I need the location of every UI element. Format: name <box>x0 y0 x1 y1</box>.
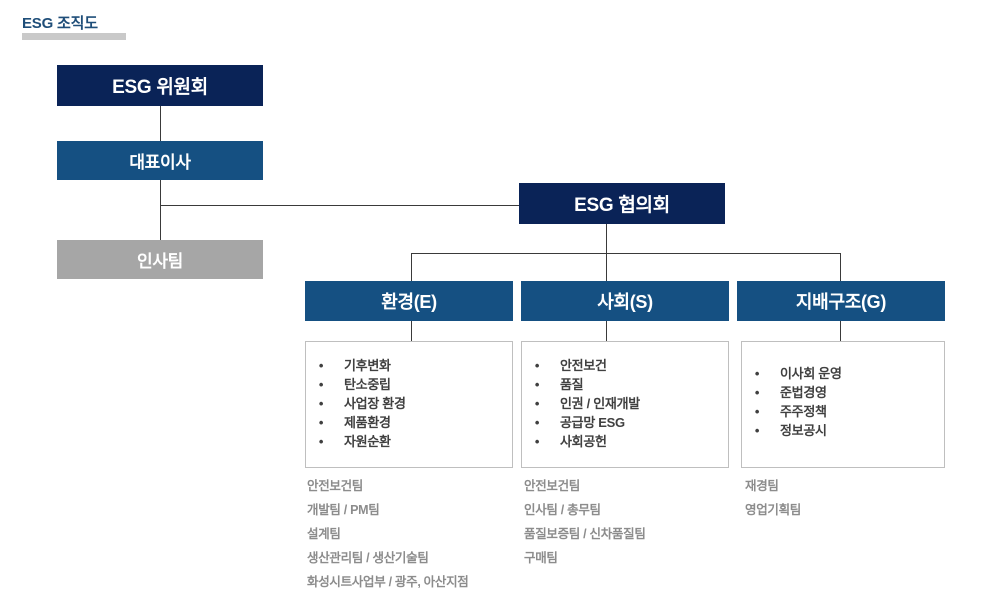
team-name: 화성시트사업부 / 광주, 아산지점 <box>307 570 468 594</box>
topic-item-label: 주주정책 <box>772 402 827 421</box>
topic-item: •품질 <box>522 375 728 394</box>
topics-box-social: •안전보건•품질•인권 / 인재개발•공급망 ESG•사회공헌 <box>521 341 729 468</box>
topic-item-label: 사업장 환경 <box>336 394 406 413</box>
bullet-icon: • <box>522 356 552 375</box>
team-name: 인사팀 / 총무팀 <box>524 498 646 522</box>
team-name: 생산관리팀 / 생산기술팀 <box>307 546 468 570</box>
topic-item: •공급망 ESG <box>522 413 728 432</box>
topic-item-label: 품질 <box>552 375 583 394</box>
connector-distributor-bar <box>411 253 841 254</box>
topic-item-label: 준법경영 <box>772 383 827 402</box>
topic-item: •안전보건 <box>522 356 728 375</box>
topics-box-governance: •이사회 운영•준법경영•주주정책•정보공시 <box>741 341 945 468</box>
connector-governance-to-topics <box>840 321 841 341</box>
topic-item: •자원순환 <box>306 432 512 451</box>
connector-ceo-to-council <box>160 205 519 206</box>
connector-committee-to-ceo <box>160 106 161 141</box>
connector-council-to-distributor <box>606 224 607 253</box>
node-pillar-governance-label: 지배구조(G) <box>796 288 886 314</box>
bullet-icon: • <box>306 432 336 451</box>
node-pillar-environment[interactable]: 환경(E) <box>305 281 513 321</box>
connector-social-to-topics <box>606 321 607 341</box>
team-name: 구매팀 <box>524 546 646 570</box>
topic-item-label: 사회공헌 <box>552 432 607 451</box>
topic-item-label: 정보공시 <box>772 421 827 440</box>
node-ceo-label: 대표이사 <box>129 148 190 173</box>
node-esg-committee-label: ESG 위원회 <box>112 72 208 99</box>
topic-item: •제품환경 <box>306 413 512 432</box>
topic-item-label: 인권 / 인재개발 <box>552 394 640 413</box>
connector-distributor-to-social <box>606 253 607 281</box>
topic-item-label: 제품환경 <box>336 413 391 432</box>
node-esg-committee[interactable]: ESG 위원회 <box>57 65 263 106</box>
topic-item: •사회공헌 <box>522 432 728 451</box>
node-ceo[interactable]: 대표이사 <box>57 141 263 180</box>
connector-ceo-to-hr <box>160 180 161 240</box>
bullet-icon: • <box>306 375 336 394</box>
node-esg-council-label: ESG 협의회 <box>574 190 670 217</box>
title-underline-bar <box>22 33 126 40</box>
node-hr-team[interactable]: 인사팀 <box>57 240 263 279</box>
topic-item-label: 안전보건 <box>552 356 607 375</box>
topic-item: •기후변화 <box>306 356 512 375</box>
bullet-icon: • <box>306 413 336 432</box>
topic-item: •탄소중립 <box>306 375 512 394</box>
team-name: 개발팀 / PM팀 <box>307 498 468 522</box>
node-pillar-environment-label: 환경(E) <box>381 288 437 314</box>
bullet-icon: • <box>522 432 552 451</box>
team-list-environment: 안전보건팀개발팀 / PM팀설계팀생산관리팀 / 생산기술팀화성시트사업부 / … <box>307 474 468 594</box>
bullet-icon: • <box>306 356 336 375</box>
topic-item-label: 자원순환 <box>336 432 391 451</box>
bullet-icon: • <box>522 394 552 413</box>
bullet-icon: • <box>742 383 772 402</box>
topic-item: •사업장 환경 <box>306 394 512 413</box>
node-esg-council[interactable]: ESG 협의회 <box>519 183 725 224</box>
topic-item-label: 기후변화 <box>336 356 391 375</box>
team-name: 재경팀 <box>745 474 801 498</box>
bullet-icon: • <box>742 364 772 383</box>
team-name: 안전보건팀 <box>307 474 468 498</box>
node-pillar-governance[interactable]: 지배구조(G) <box>737 281 945 321</box>
topic-item: •정보공시 <box>742 421 944 440</box>
team-name: 영업기획팀 <box>745 498 801 522</box>
team-name: 품질보증팀 / 신차품질팀 <box>524 522 646 546</box>
topic-item-label: 이사회 운영 <box>772 364 842 383</box>
team-list-social: 안전보건팀인사팀 / 총무팀품질보증팀 / 신차품질팀구매팀 <box>524 474 646 570</box>
topic-item-label: 탄소중립 <box>336 375 391 394</box>
connector-environment-to-topics <box>411 321 412 341</box>
topic-item: •주주정책 <box>742 402 944 421</box>
connector-distributor-to-environment <box>411 253 412 281</box>
topics-box-environment: •기후변화•탄소중립•사업장 환경•제품환경•자원순환 <box>305 341 513 468</box>
team-list-governance: 재경팀영업기획팀 <box>745 474 801 522</box>
node-hr-team-label: 인사팀 <box>137 247 183 272</box>
bullet-icon: • <box>742 421 772 440</box>
team-name: 안전보건팀 <box>524 474 646 498</box>
node-pillar-social[interactable]: 사회(S) <box>521 281 729 321</box>
connector-distributor-to-governance <box>840 253 841 281</box>
bullet-icon: • <box>522 375 552 394</box>
topic-item-label: 공급망 ESG <box>552 413 625 432</box>
topic-item: •이사회 운영 <box>742 364 944 383</box>
topic-item: •인권 / 인재개발 <box>522 394 728 413</box>
bullet-icon: • <box>306 394 336 413</box>
page-title: ESG 조직도 <box>22 12 98 33</box>
topic-item: •준법경영 <box>742 383 944 402</box>
bullet-icon: • <box>742 402 772 421</box>
bullet-icon: • <box>522 413 552 432</box>
node-pillar-social-label: 사회(S) <box>597 288 653 314</box>
esg-org-chart-canvas: ESG 조직도 ESG 위원회 대표이사 인사팀 ESG 협의회 환경(E) 사… <box>0 0 985 595</box>
team-name: 설계팀 <box>307 522 468 546</box>
